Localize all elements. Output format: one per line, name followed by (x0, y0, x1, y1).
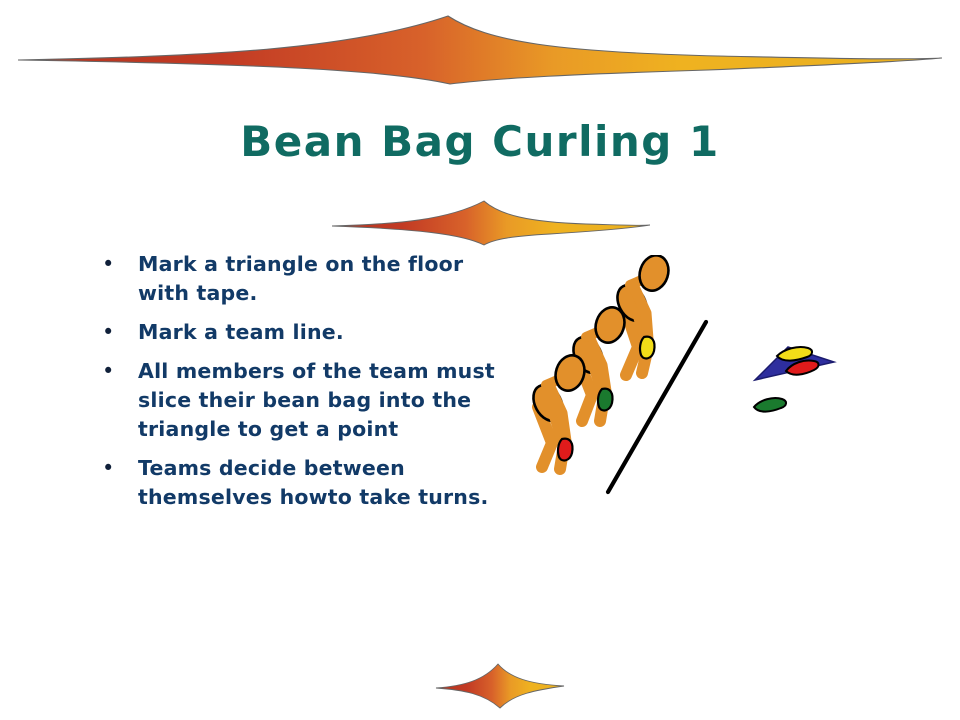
bean-bag-curling-illustration (530, 255, 930, 505)
bullet-list: • Mark a triangle on the floor with tape… (96, 250, 496, 522)
list-item: • Mark a team line. (96, 318, 496, 347)
bullet-text: Mark a triangle on the floor with tape. (138, 250, 496, 308)
list-item: • All members of the team must slice the… (96, 357, 496, 444)
page-title: Bean Bag Curling 1 (0, 117, 960, 166)
list-item: • Mark a triangle on the floor with tape… (96, 250, 496, 308)
bullet-marker: • (96, 250, 138, 279)
middle-ornament (332, 196, 650, 250)
bean-bag-green (598, 389, 613, 411)
bean-bag-yellow (640, 337, 655, 359)
bullet-marker: • (96, 357, 138, 386)
list-item: • Teams decide between themselves howto … (96, 454, 496, 512)
bullet-marker: • (96, 318, 138, 347)
bean-bag-green-near-triangle (754, 398, 786, 412)
figure-head (635, 255, 673, 294)
top-ornament (18, 8, 942, 88)
slide-canvas: Bean Bag Curling 1 • Mark a triangle on … (0, 0, 960, 720)
bullet-text: Mark a team line. (138, 318, 496, 347)
bullet-marker: • (96, 454, 138, 483)
bullet-text: Teams decide between themselves howto ta… (138, 454, 496, 512)
bottom-ornament (418, 652, 578, 720)
bullet-text: All members of the team must slice their… (138, 357, 496, 444)
team-line (608, 322, 706, 492)
bean-bag-red (558, 439, 573, 461)
